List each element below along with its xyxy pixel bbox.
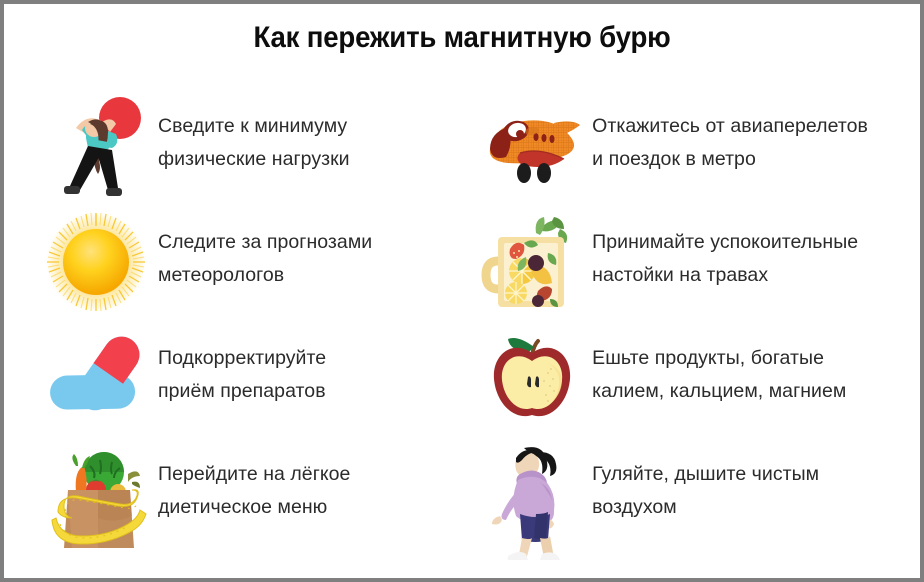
herbal-tea-mug-icon	[472, 208, 592, 318]
infographic-root: Как пережить магнитную бурю	[0, 0, 924, 582]
woman-exercise-ball-icon	[38, 92, 158, 204]
tip-text: Перейдите на лёгкое диетическое меню	[158, 440, 350, 524]
tip-text: Ешьте продукты, богатые калием, кальцием…	[592, 324, 846, 408]
tip-text: Принимайте успокоительные настойки на тр…	[592, 208, 858, 292]
tip-item-diet-menu: Перейдите на лёгкое диетическое меню	[38, 440, 450, 556]
pills-capsules-icon	[38, 324, 158, 434]
tip-text: Подкорректируйте приём препаратов	[158, 324, 326, 408]
tip-text: Сведите к минимуму физические нагрузки	[158, 92, 350, 176]
tips-columns: Сведите к минимуму физические нагрузки	[4, 92, 920, 578]
sun-icon	[38, 208, 158, 318]
tip-item-avoid-flights: Откажитесь от авиаперелетов и поездок в …	[472, 92, 920, 208]
tip-text: Откажитесь от авиаперелетов и поездок в …	[592, 92, 868, 176]
walking-woman-icon	[472, 440, 592, 552]
left-column: Сведите к минимуму физические нагрузки	[4, 92, 450, 578]
tip-item-medication: Подкорректируйте приём препаратов	[38, 324, 450, 440]
tip-item-exercise: Сведите к минимуму физические нагрузки	[38, 92, 450, 208]
tip-item-weather-forecast: Следите за прогнозами метеорологов	[38, 208, 450, 324]
tip-item-walk-fresh-air: Гуляйте, дышите чистым воздухом	[472, 440, 920, 556]
apple-half-icon	[472, 324, 592, 434]
tip-item-potassium-foods: Ешьте продукты, богатые калием, кальцием…	[472, 324, 920, 440]
airplane-icon	[472, 92, 592, 202]
grocery-bag-diet-icon	[38, 440, 158, 556]
right-column: Откажитесь от авиаперелетов и поездок в …	[450, 92, 920, 578]
tip-item-herbal-tea: Принимайте успокоительные настойки на тр…	[472, 208, 920, 324]
tip-text: Гуляйте, дышите чистым воздухом	[592, 440, 819, 524]
page-title: Как пережить магнитную бурю	[41, 20, 884, 56]
tip-text: Следите за прогнозами метеорологов	[158, 208, 372, 292]
